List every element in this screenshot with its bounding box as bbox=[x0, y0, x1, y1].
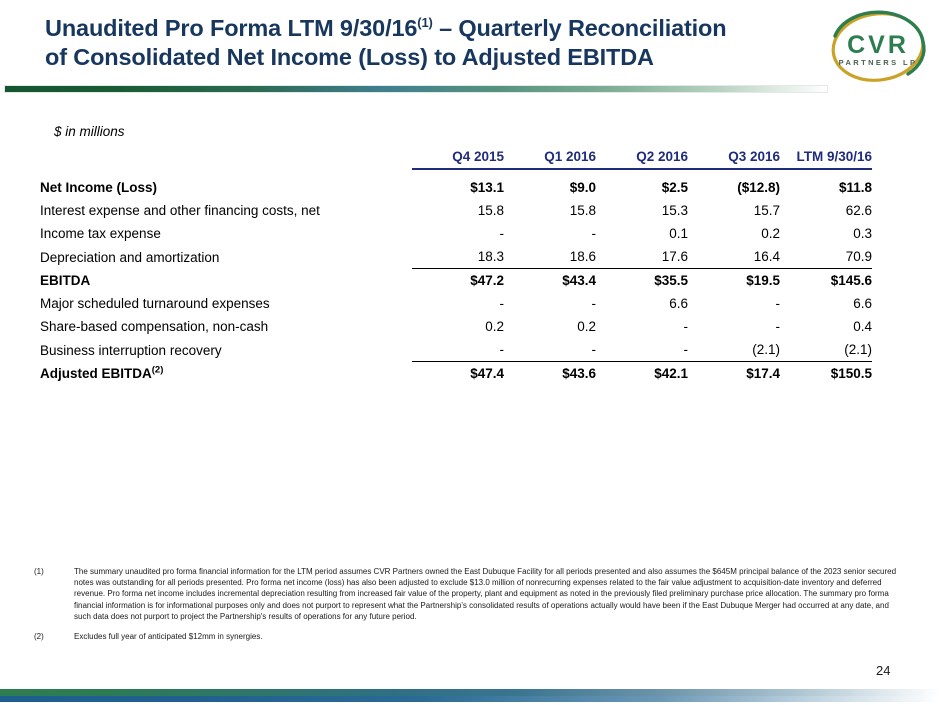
row-label: Major scheduled turnaround expenses bbox=[40, 292, 412, 315]
row-value: 0.1 bbox=[596, 222, 688, 245]
footnote: (1)The summary unaudited pro forma finan… bbox=[34, 566, 906, 622]
slide-header: Unaudited Pro Forma LTM 9/30/16(1) – Qua… bbox=[0, 0, 940, 95]
row-value: 18.3 bbox=[412, 245, 504, 269]
row-value: (2.1) bbox=[780, 338, 872, 362]
footnote: (2)Excludes full year of anticipated $12… bbox=[34, 631, 906, 642]
row-value: - bbox=[688, 315, 780, 338]
table-row: Adjusted EBITDA(2)$47.4$43.6$42.1$17.4$1… bbox=[40, 362, 872, 386]
row-value: 0.4 bbox=[780, 315, 872, 338]
table-row: Net Income (Loss)$13.1$9.0$2.5($12.8)$11… bbox=[40, 176, 872, 199]
row-value: 15.3 bbox=[596, 199, 688, 222]
footer-gradient-bar-bottom bbox=[0, 696, 940, 702]
footnote-marker: (2) bbox=[34, 631, 44, 642]
row-value: - bbox=[412, 338, 504, 362]
row-value: 15.7 bbox=[688, 199, 780, 222]
page-title: Unaudited Pro Forma LTM 9/30/16(1) – Qua… bbox=[45, 14, 805, 72]
table-header-q4-2015: Q4 2015 bbox=[412, 146, 504, 169]
row-label: Interest expense and other financing cos… bbox=[40, 199, 412, 222]
row-label-superscript: (2) bbox=[152, 365, 164, 376]
row-value: ($12.8) bbox=[688, 176, 780, 199]
row-value: $13.1 bbox=[412, 176, 504, 199]
row-value: 70.9 bbox=[780, 245, 872, 269]
row-value: $17.4 bbox=[688, 362, 780, 386]
units-caption: $ in millions bbox=[54, 124, 125, 139]
row-value: $43.6 bbox=[504, 362, 596, 386]
table-header-blank bbox=[40, 146, 412, 169]
table-spacer-row bbox=[40, 169, 872, 176]
row-value: 6.6 bbox=[780, 292, 872, 315]
row-value: $47.2 bbox=[412, 269, 504, 293]
row-label: Depreciation and amortization bbox=[40, 245, 412, 269]
table-header-q1-2016: Q1 2016 bbox=[504, 146, 596, 169]
table-row: Depreciation and amortization18.318.617.… bbox=[40, 245, 872, 269]
row-value: 62.6 bbox=[780, 199, 872, 222]
footnote-text: Excludes full year of anticipated $12mm … bbox=[74, 631, 906, 642]
row-label: Business interruption recovery bbox=[40, 338, 412, 362]
row-value: - bbox=[504, 222, 596, 245]
row-value: $43.4 bbox=[504, 269, 596, 293]
row-value: 6.6 bbox=[596, 292, 688, 315]
table-row: Income tax expense--0.10.20.3 bbox=[40, 222, 872, 245]
row-value: - bbox=[596, 315, 688, 338]
row-value: 16.4 bbox=[688, 245, 780, 269]
logo-wordmark: CVR bbox=[847, 31, 909, 59]
row-label: Income tax expense bbox=[40, 222, 412, 245]
row-value: - bbox=[504, 338, 596, 362]
row-value: 17.6 bbox=[596, 245, 688, 269]
table-row: Interest expense and other financing cos… bbox=[40, 199, 872, 222]
table-body: Net Income (Loss)$13.1$9.0$2.5($12.8)$11… bbox=[40, 169, 872, 385]
row-value: - bbox=[596, 338, 688, 362]
table-header-q3-2016: Q3 2016 bbox=[688, 146, 780, 169]
page-number: 24 bbox=[876, 663, 890, 678]
row-value: $9.0 bbox=[504, 176, 596, 199]
row-value: - bbox=[412, 292, 504, 315]
footnotes: (1)The summary unaudited pro forma finan… bbox=[34, 566, 906, 651]
table-row: EBITDA$47.2$43.4$35.5$19.5$145.6 bbox=[40, 269, 872, 293]
table-header-row: Q4 2015 Q1 2016 Q2 2016 Q3 2016 LTM 9/30… bbox=[40, 146, 872, 169]
footnote-marker: (1) bbox=[34, 566, 44, 577]
cvr-partners-logo: CVR PARTNERS LP bbox=[822, 8, 934, 86]
row-value: 0.3 bbox=[780, 222, 872, 245]
row-value: - bbox=[412, 222, 504, 245]
row-value: 18.6 bbox=[504, 245, 596, 269]
page-title-superscript-1: (1) bbox=[417, 15, 432, 30]
row-value: $150.5 bbox=[780, 362, 872, 386]
table-row: Major scheduled turnaround expenses--6.6… bbox=[40, 292, 872, 315]
row-value: $19.5 bbox=[688, 269, 780, 293]
footer-gradient-bar-top bbox=[0, 689, 940, 696]
table-row: Share-based compensation, non-cash0.20.2… bbox=[40, 315, 872, 338]
footnote-text: The summary unaudited pro forma financia… bbox=[74, 566, 906, 622]
row-value: $145.6 bbox=[780, 269, 872, 293]
page-title-line2: of Consolidated Net Income (Loss) to Adj… bbox=[45, 43, 805, 72]
table-header-q2-2016: Q2 2016 bbox=[596, 146, 688, 169]
logo-subtext: PARTNERS LP bbox=[839, 58, 918, 67]
row-label: Net Income (Loss) bbox=[40, 176, 412, 199]
row-value: $42.1 bbox=[596, 362, 688, 386]
reconciliation-table: Q4 2015 Q1 2016 Q2 2016 Q3 2016 LTM 9/30… bbox=[40, 146, 872, 385]
page-title-line1-tail: – Quarterly Reconciliation bbox=[433, 15, 727, 41]
row-value: 15.8 bbox=[412, 199, 504, 222]
row-value: $35.5 bbox=[596, 269, 688, 293]
row-label: EBITDA bbox=[40, 269, 412, 293]
table-row: Business interruption recovery---(2.1)(2… bbox=[40, 338, 872, 362]
table-header-ltm: LTM 9/30/16 bbox=[780, 146, 872, 169]
header-divider-bar bbox=[4, 85, 828, 93]
row-value: (2.1) bbox=[688, 338, 780, 362]
row-value: $11.8 bbox=[780, 176, 872, 199]
row-value: - bbox=[688, 292, 780, 315]
row-value: $47.4 bbox=[412, 362, 504, 386]
row-value: - bbox=[504, 292, 596, 315]
page-title-line1: Unaudited Pro Forma LTM 9/30/16 bbox=[45, 15, 417, 41]
row-value: 0.2 bbox=[412, 315, 504, 338]
row-label: Share-based compensation, non-cash bbox=[40, 315, 412, 338]
row-value: $2.5 bbox=[596, 176, 688, 199]
row-value: 0.2 bbox=[688, 222, 780, 245]
row-value: 0.2 bbox=[504, 315, 596, 338]
row-label: Adjusted EBITDA(2) bbox=[40, 362, 412, 386]
row-value: 15.8 bbox=[504, 199, 596, 222]
